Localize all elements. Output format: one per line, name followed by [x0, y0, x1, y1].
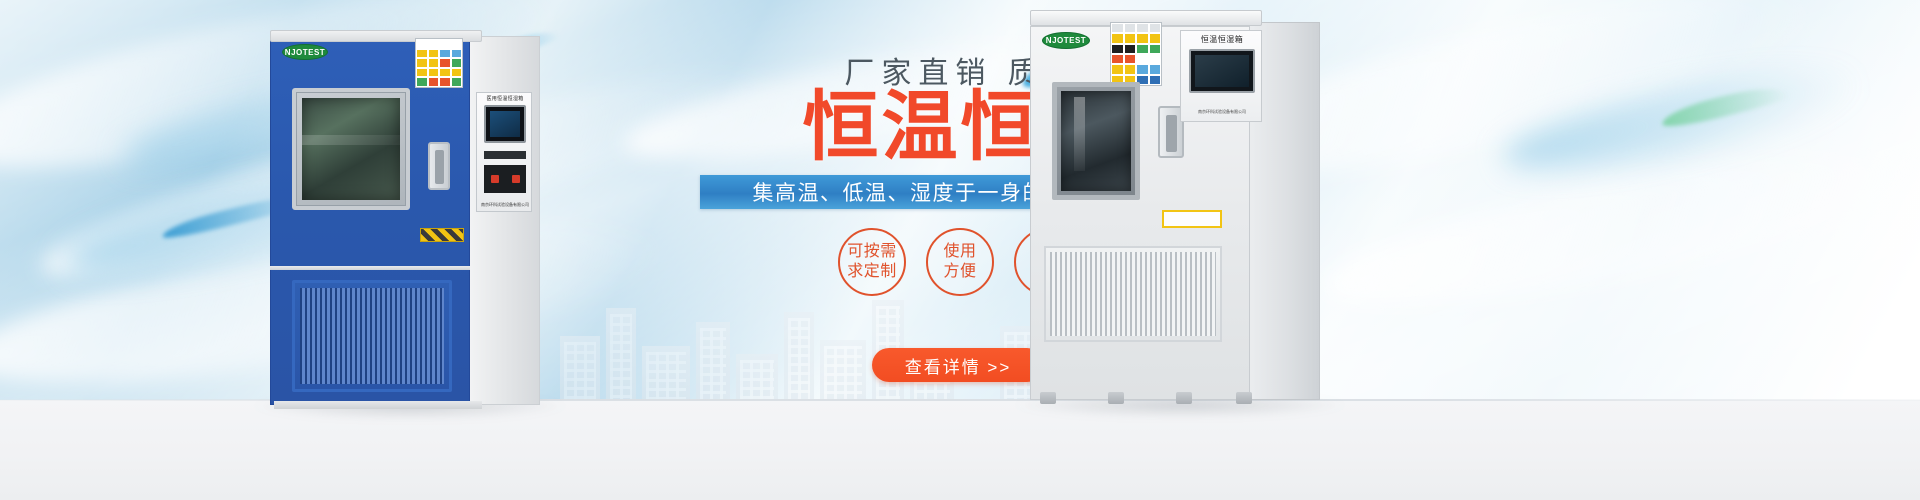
right-chamber-vent-grille [1044, 246, 1222, 342]
left-chamber-base [274, 401, 482, 409]
brand-logo-left: NJOTEST [282, 44, 328, 60]
spec-label-right [1162, 210, 1222, 228]
right-chamber-legs [1040, 392, 1252, 404]
window-glass [1061, 91, 1131, 191]
warning-label-right [1110, 22, 1162, 86]
left-chamber-viewing-window [292, 88, 410, 210]
feature-badge[interactable]: 使用 方便 [926, 228, 994, 296]
hazard-stripe-label-left [420, 228, 464, 242]
start-button-icon[interactable] [512, 175, 520, 183]
left-chamber-door-handle [428, 142, 450, 190]
promo-banner: NJOTEST 医用恒温恒湿箱 南京环科试验设备有限公司 [0, 0, 1920, 500]
controller-screen-left[interactable] [484, 105, 526, 143]
product-image-left-chamber: NJOTEST 医用恒温恒湿箱 南京环科试验设备有限公司 [270, 30, 540, 405]
right-chamber-control-panel[interactable]: 恒温恒湿箱 南京环科试验设备有限公司 [1180, 30, 1262, 122]
badge-line-2: 求定制 [847, 262, 897, 282]
left-chamber-vent-grille [292, 280, 452, 392]
brand-logo-right: NJOTEST [1042, 32, 1090, 49]
left-chamber-control-panel[interactable]: 医用恒温恒湿箱 南京环科试验设备有限公司 [476, 92, 532, 212]
left-chamber-divider [270, 266, 470, 270]
indicator-led-strip-left [484, 151, 526, 159]
product-image-right-chamber: NJOTEST 恒温恒湿箱 南京环科试验设备有限公司 [1030, 10, 1320, 405]
control-panel-brand-right: 南京环科试验设备有限公司 [1181, 109, 1263, 115]
controller-screen-right[interactable] [1189, 49, 1255, 93]
power-button-icon[interactable] [491, 175, 499, 183]
right-chamber-viewing-window [1052, 82, 1140, 200]
warning-label-left [415, 38, 463, 88]
control-panel-title-right: 恒温恒湿箱 [1181, 34, 1263, 45]
badge-line-1: 可按需 [847, 242, 897, 262]
control-panel-title-left: 医用恒温恒湿箱 [477, 95, 533, 102]
view-details-button[interactable]: 查看详情 >> [872, 348, 1044, 382]
control-panel-brand-left: 南京环科试验设备有限公司 [481, 202, 529, 208]
badge-line-1: 使用 [943, 242, 976, 262]
feature-badge[interactable]: 可按需 求定制 [838, 228, 906, 296]
window-glass [302, 98, 400, 200]
badge-line-2: 方便 [943, 262, 976, 282]
control-button-row-left[interactable] [484, 165, 526, 193]
